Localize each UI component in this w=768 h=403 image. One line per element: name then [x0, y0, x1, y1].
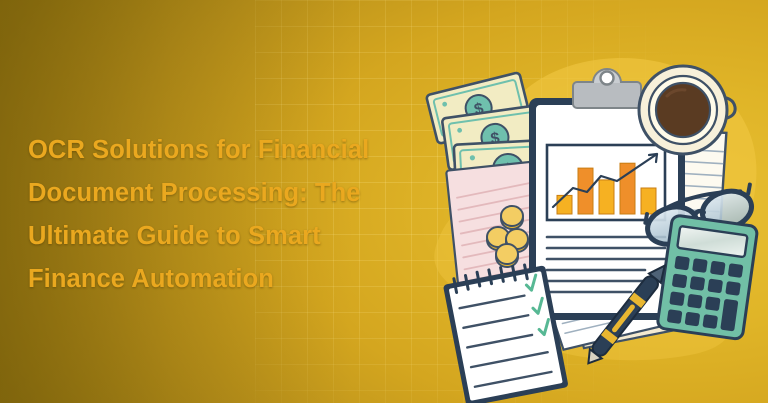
financial-illustration: $ $ $ [395, 42, 768, 383]
bar-chart [547, 145, 665, 220]
calculator [657, 215, 758, 340]
hero-banner: $ $ $ [0, 0, 768, 403]
page-title: OCR Solutions for Financial Document Pro… [28, 129, 420, 301]
